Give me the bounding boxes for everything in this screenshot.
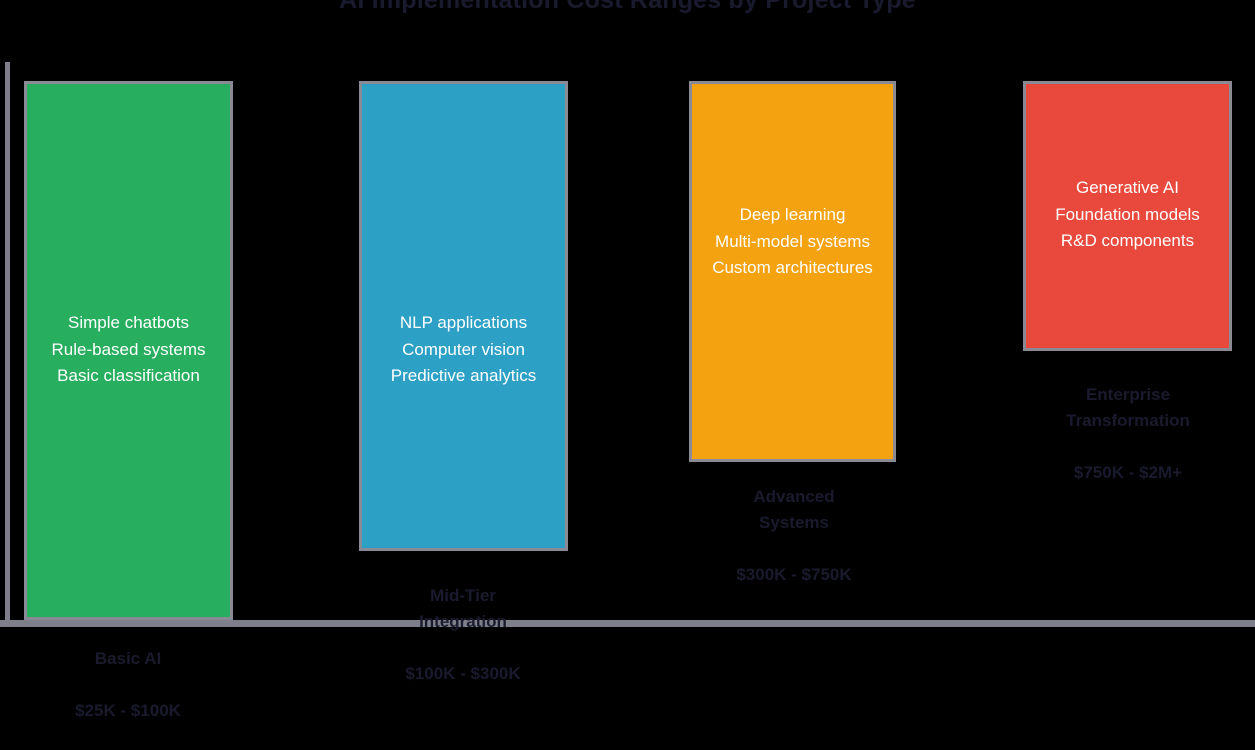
bar-label-mid-tier-integration: Mid-Tier Integration $100K - $300K bbox=[333, 557, 593, 713]
bar-enterprise-transformation[interactable]: Generative AI Foundation models R&D comp… bbox=[1023, 81, 1232, 351]
bar-examples-text: NLP applications Computer vision Predict… bbox=[362, 310, 565, 390]
bar-examples-text: Simple chatbots Rule-based systems Basic… bbox=[27, 310, 230, 390]
bar-advanced-systems[interactable]: Deep learning Multi-model systems Custom… bbox=[689, 81, 896, 462]
chart-title: AI Implementation Cost Ranges by Project… bbox=[0, 0, 1255, 15]
bar-label-basic-ai: Basic AI $25K - $100K bbox=[0, 620, 258, 750]
bar-range-label: $300K - $750K bbox=[664, 562, 924, 588]
bar-range-label: $25K - $100K bbox=[0, 698, 258, 724]
bar-label-enterprise-transformation: Enterprise Transformation $750K - $2M+ bbox=[998, 356, 1255, 512]
bar-range-label: $100K - $300K bbox=[333, 661, 593, 687]
bar-mid-tier-integration[interactable]: NLP applications Computer vision Predict… bbox=[359, 81, 568, 551]
bar-examples-text: Generative AI Foundation models R&D comp… bbox=[1026, 175, 1229, 255]
bar-category-label: Advanced Systems bbox=[664, 484, 924, 536]
chart-canvas: AI Implementation Cost Ranges by Project… bbox=[0, 0, 1255, 672]
bar-category-label: Mid-Tier Integration bbox=[333, 583, 593, 635]
bar-range-label: $750K - $2M+ bbox=[998, 460, 1255, 486]
bar-category-label: Enterprise Transformation bbox=[998, 382, 1255, 434]
bar-category-label: Basic AI bbox=[0, 646, 258, 672]
bar-basic-ai[interactable]: Simple chatbots Rule-based systems Basic… bbox=[24, 81, 233, 620]
bar-label-advanced-systems: Advanced Systems $300K - $750K bbox=[664, 458, 924, 614]
bar-examples-text: Deep learning Multi-model systems Custom… bbox=[692, 202, 893, 282]
y-axis-spine bbox=[5, 62, 10, 620]
